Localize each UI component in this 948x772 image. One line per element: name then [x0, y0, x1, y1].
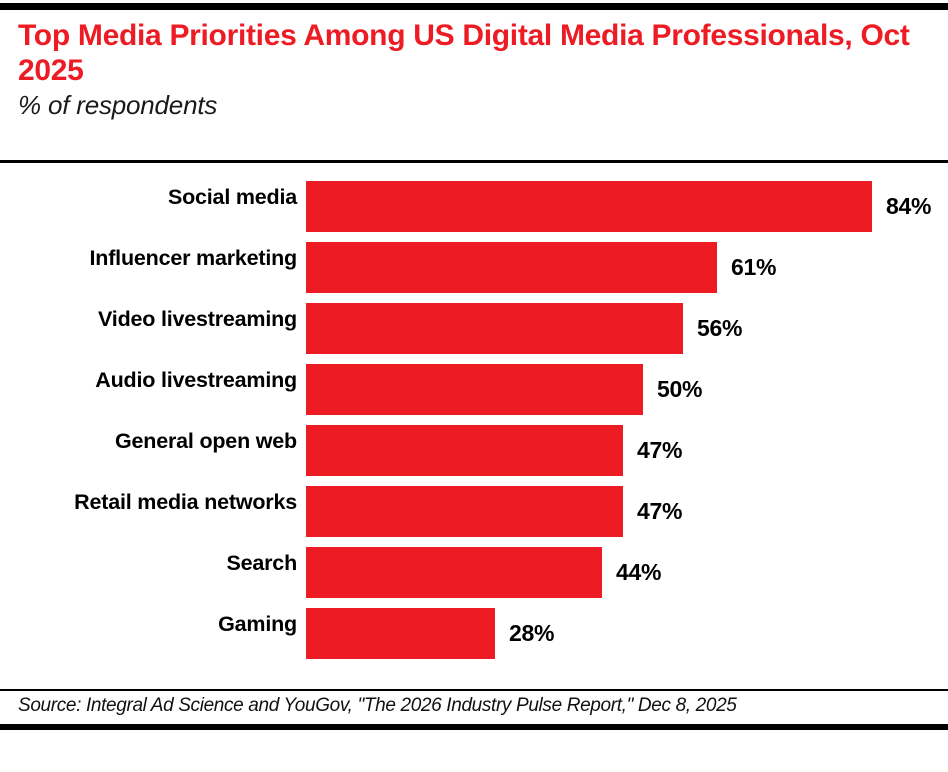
bar-row: Search44% [0, 538, 948, 599]
bar-track: 84% [306, 181, 948, 232]
bar-fill[interactable] [306, 547, 602, 598]
bar-track: 28% [306, 608, 948, 659]
bar-track: 44% [306, 547, 948, 598]
bar-category-label: Gaming [0, 599, 297, 650]
bar-fill[interactable] [306, 303, 683, 354]
bar-fill[interactable] [306, 364, 643, 415]
chart-card: Top Media Priorities Among US Digital Me… [0, 0, 948, 772]
bar-fill[interactable] [306, 486, 623, 537]
bar-category-label: Video livestreaming [0, 294, 297, 345]
bar-row: Influencer marketing61% [0, 233, 948, 294]
bar-row: Audio livestreaming50% [0, 355, 948, 416]
bar-value-label: 28% [509, 608, 554, 659]
bar-fill[interactable] [306, 242, 717, 293]
bar-value-label: 50% [657, 364, 702, 415]
chart-header: Top Media Priorities Among US Digital Me… [18, 18, 930, 120]
bar-fill[interactable] [306, 608, 495, 659]
bar-track: 47% [306, 425, 948, 476]
bar-track: 50% [306, 364, 948, 415]
header-divider-rule [0, 160, 948, 163]
page-title: Top Media Priorities Among US Digital Me… [18, 18, 930, 88]
bar-track: 61% [306, 242, 948, 293]
bar-row: Retail media networks47% [0, 477, 948, 538]
bar-track: 47% [306, 486, 948, 537]
bar-track: 56% [306, 303, 948, 354]
bar-category-label: General open web [0, 416, 297, 467]
bar-category-label: Audio livestreaming [0, 355, 297, 406]
bar-fill[interactable] [306, 181, 872, 232]
source-divider-rule [0, 689, 948, 691]
chart-subtitle: % of respondents [18, 91, 930, 120]
bar-value-label: 47% [637, 486, 682, 537]
footer-bar: 356803 EMARKETER [0, 730, 948, 772]
bar-chart-plot-area: Social media84%Influencer marketing61%Vi… [0, 172, 948, 677]
bar-row: Gaming28% [0, 599, 948, 660]
bar-value-label: 61% [731, 242, 776, 293]
bar-category-label: Influencer marketing [0, 233, 297, 284]
bar-fill[interactable] [306, 425, 623, 476]
bar-row: Video livestreaming56% [0, 294, 948, 355]
bar-category-label: Search [0, 538, 297, 589]
bar-row: Social media84% [0, 172, 948, 233]
bar-value-label: 44% [616, 547, 661, 598]
top-border-rule [0, 3, 948, 10]
bar-row: General open web47% [0, 416, 948, 477]
bar-value-label: 84% [886, 181, 931, 232]
bar-category-label: Retail media networks [0, 477, 297, 528]
bar-category-label: Social media [0, 172, 297, 223]
source-note: Source: Integral Ad Science and YouGov, … [18, 695, 938, 717]
bar-value-label: 56% [697, 303, 742, 354]
bar-value-label: 47% [637, 425, 682, 476]
